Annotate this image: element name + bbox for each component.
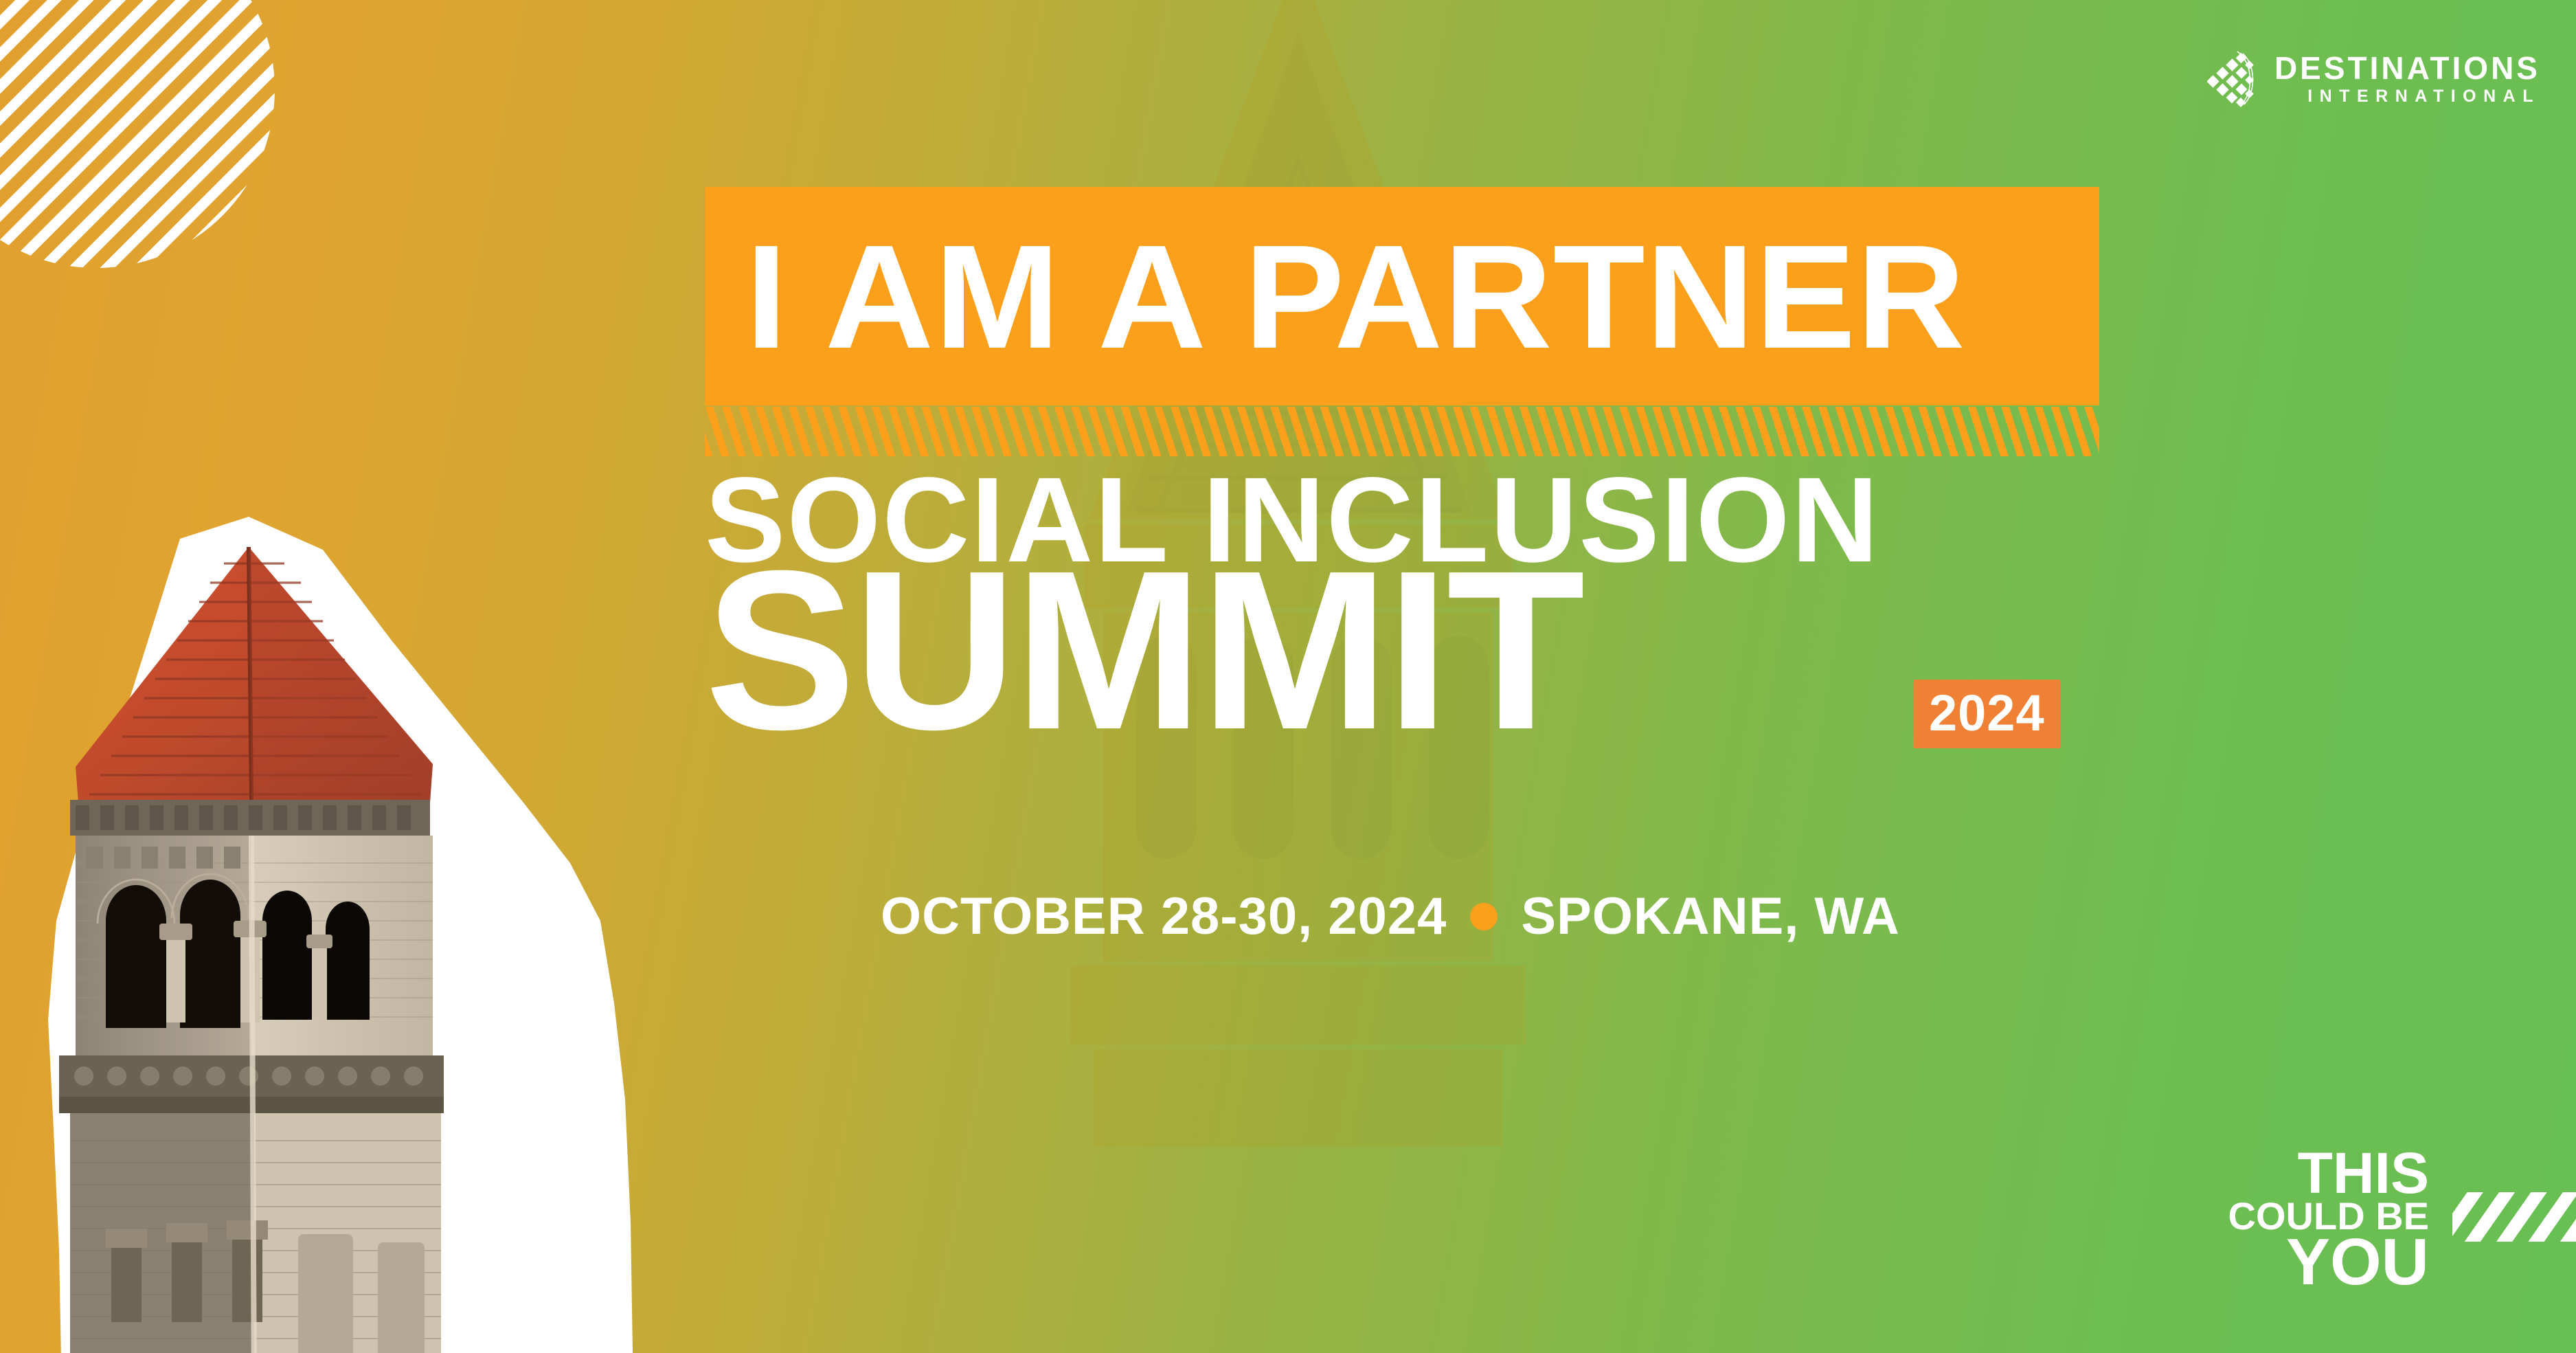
tagline-line-1: THIS	[2298, 1148, 2429, 1199]
tagline-line-3: YOU	[2286, 1233, 2429, 1291]
diagonal-stripe-band-icon	[705, 407, 2099, 456]
year-badge: 2024	[1914, 680, 2060, 748]
brand-name-primary: DESTINATIONS	[2274, 52, 2540, 84]
destinations-international-logo: DESTINATIONS INTERNATIONAL	[2207, 49, 2540, 107]
event-location: SPOKANE, WA	[1521, 891, 1900, 943]
partner-banner-label: I AM A PARTNER	[705, 223, 1966, 370]
partner-banner: I AM A PARTNER	[705, 187, 2099, 405]
brand-wordmark: DESTINATIONS INTERNATIONAL	[2274, 52, 2540, 105]
headline-block: SOCIAL INCLUSION SUMMIT 2024	[705, 462, 2353, 796]
diagonal-stripes-icon	[2452, 1192, 2576, 1242]
spokane-clock-tower-photo	[0, 508, 694, 1353]
tagline-words: THIS COULD BE YOU	[2228, 1148, 2429, 1291]
event-meta-row: OCTOBER 28-30, 2024 SPOKANE, WA	[881, 891, 1900, 943]
event-promo-poster: I AM A PARTNER SOCIAL INCLUSION SUMMIT 2…	[0, 0, 2576, 1353]
event-dates: OCTOBER 28-30, 2024	[881, 891, 1447, 943]
brand-name-secondary: INTERNATIONAL	[2274, 88, 2540, 105]
this-could-be-you-tagline: THIS COULD BE YOU	[2228, 1148, 2576, 1291]
globe-diamond-grid-icon	[2207, 49, 2259, 107]
striped-circle-icon	[0, 0, 275, 268]
headline-line-summit: SUMMIT	[705, 537, 1582, 763]
headline-summit-row: SUMMIT 2024	[705, 570, 2353, 796]
orange-dot-icon	[1470, 903, 1498, 930]
